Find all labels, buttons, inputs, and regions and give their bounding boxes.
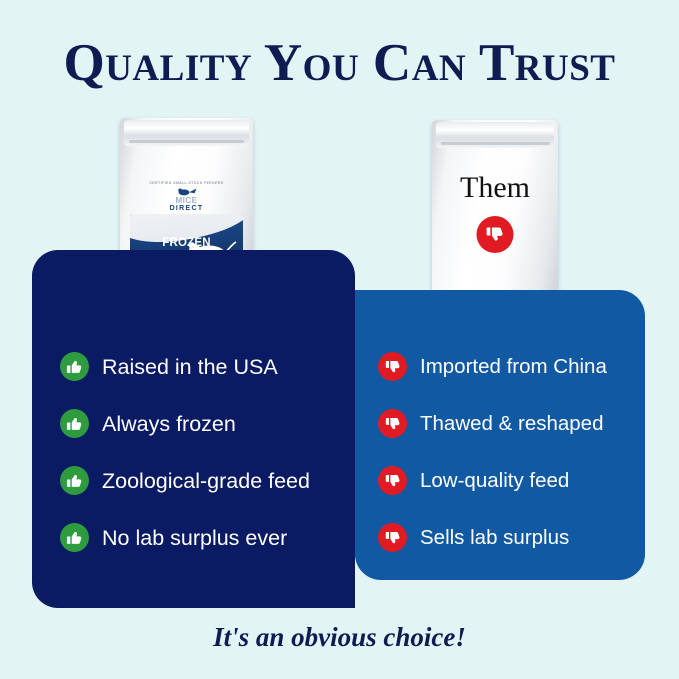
- logo-text-mice: MICE: [120, 197, 253, 205]
- thumbs-down-glyph: [384, 529, 402, 547]
- list-item-label: Always frozen: [102, 412, 236, 436]
- list-item-label: Zoological-grade feed: [102, 469, 310, 493]
- list-item-label: Raised in the USA: [102, 355, 278, 379]
- thumbs-down-glyph: [384, 358, 402, 376]
- thumbs-up-glyph: [65, 528, 84, 547]
- list-item: Thawed & reshaped: [378, 409, 603, 438]
- thumbs-down-glyph: [384, 472, 402, 490]
- thumbs-down-icon: [378, 352, 407, 381]
- list-item-label: Thawed & reshaped: [420, 412, 603, 436]
- list-item-label: No lab surplus ever: [102, 526, 287, 550]
- list-item: Low-quality feed: [378, 466, 569, 495]
- thumbs-down-icon: [378, 523, 407, 552]
- thumbs-up-glyph: [65, 414, 84, 433]
- list-item: Imported from China: [378, 352, 607, 381]
- list-item: Zoological-grade feed: [60, 466, 310, 495]
- our-benefits-panel: Raised in the USA Always frozen Zoologic…: [32, 250, 355, 608]
- thumbs-up-icon: [60, 466, 89, 495]
- product-bag-theirs: Them: [432, 120, 558, 316]
- competitor-drawbacks-panel: Imported from China Thawed & reshaped Lo…: [355, 290, 645, 580]
- thumbs-down-glyph: [384, 415, 402, 433]
- page-title: Quality You Can Trust: [0, 34, 679, 92]
- mouse-logo-icon: [176, 188, 198, 196]
- bag-seal-theirs: [436, 122, 554, 148]
- benefit-list: Raised in the USA Always frozen Zoologic…: [32, 250, 355, 608]
- list-item: Sells lab surplus: [378, 523, 569, 552]
- tagline: It's an obvious choice!: [0, 622, 679, 653]
- thumbs-down-icon: [378, 466, 407, 495]
- logo-text-direct: DIRECT: [120, 205, 253, 212]
- thumbs-up-icon: [60, 523, 89, 552]
- bag-body-theirs: Them: [432, 120, 558, 316]
- thumbs-up-glyph: [65, 357, 84, 376]
- list-item-label: Imported from China: [420, 355, 607, 379]
- thumbs-up-glyph: [65, 471, 84, 490]
- thumbs-down-icon: [378, 409, 407, 438]
- list-item: Raised in the USA: [60, 352, 278, 381]
- thumbs-up-icon: [60, 409, 89, 438]
- competitor-bag-title: Them: [432, 172, 558, 204]
- thumbs-up-icon: [60, 352, 89, 381]
- list-item: No lab surplus ever: [60, 523, 287, 552]
- list-item: Always frozen: [60, 409, 236, 438]
- drawback-list: Imported from China Thawed & reshaped Lo…: [355, 290, 645, 580]
- bag-seal: [124, 120, 249, 146]
- list-item-label: Low-quality feed: [420, 469, 569, 493]
- thumbs-down-icon: [477, 216, 514, 253]
- bag-top-tagline: CERTIFIED SMALL-STOCK FEEDERS: [120, 181, 253, 185]
- thumbs-down-glyph: [485, 224, 506, 245]
- list-item-label: Sells lab surplus: [420, 526, 569, 550]
- brand-logo: MICE DIRECT: [120, 188, 253, 212]
